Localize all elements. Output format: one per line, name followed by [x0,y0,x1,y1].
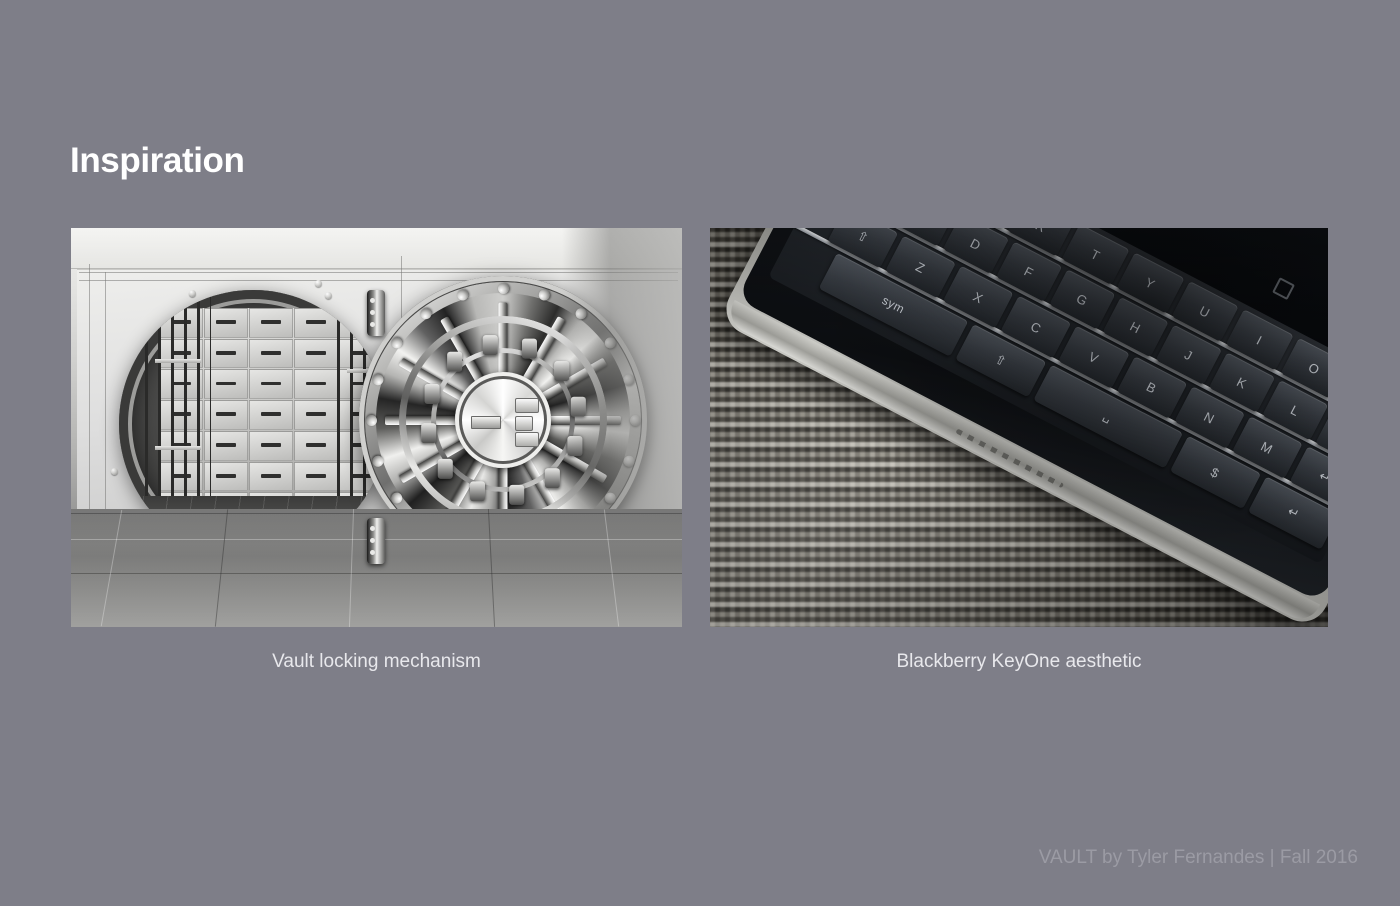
wall-bolt [111,468,118,475]
deposit-box [249,308,293,338]
page-title: Inspiration [70,138,245,184]
wall-bolt [325,292,332,299]
hub-bolt [515,416,533,431]
hinge-rivet [370,298,375,303]
locking-bolt [544,468,559,488]
floor-seam [604,509,619,626]
locking-bolt [421,423,436,443]
deposit-box [294,308,338,338]
gate-rail [155,359,201,363]
floor-seam [71,573,682,574]
gate-rail [155,446,201,450]
recents-nav-icon [1272,277,1295,300]
vault-door-hinge [367,290,385,336]
floor-seam [215,509,228,626]
deposit-box [249,400,293,430]
footer-credit: VAULT by Tyler Fernandes | Fall 2016 [1039,846,1358,870]
locking-bolt [447,352,462,372]
deposit-box [249,339,293,369]
deposit-box [249,369,293,399]
keyboard-photo: Q W E R T Y U I O P [710,228,1328,627]
hinge-rivet [370,538,375,543]
deposit-box [294,339,338,369]
floor-seam [71,513,682,514]
deposit-box [294,462,338,492]
vault-door-hinge [367,518,385,564]
presentation-slide: Inspiration [0,0,1400,906]
deposit-box [294,369,338,399]
hub-bolt [515,398,539,413]
deposit-box [294,400,338,430]
hinge-rivet [370,310,375,315]
floor-seam [349,509,354,627]
floor-seam [101,510,122,626]
locking-bolt [437,459,452,479]
locking-bolt [470,481,485,501]
vault-scene [71,228,682,627]
figure-caption-keyboard: Blackberry KeyOne aesthetic [710,649,1328,675]
wall-bolt [315,280,322,287]
floor-seam [488,509,495,627]
deposit-box [249,431,293,461]
figure-keyboard: Q W E R T Y U I O P [710,228,1328,675]
figure-vault: Vault locking mechanism [71,228,682,675]
hinge-rivet [370,550,375,555]
door-center-hub [455,372,551,468]
locking-bolt [509,485,524,505]
deposit-box [294,431,338,461]
keyboard-scene: Q W E R T Y U I O P [710,228,1328,627]
vault-photo [71,228,682,627]
locking-bolt [424,384,439,404]
locking-bolt [521,339,536,359]
hub-bolt [515,432,539,447]
locking-bolt [482,335,497,355]
hinge-rivet [370,526,375,531]
hinge-rivet [370,322,375,327]
hub-nameplate [471,416,501,429]
figure-caption-vault: Vault locking mechanism [71,649,682,675]
deposit-box [249,462,293,492]
